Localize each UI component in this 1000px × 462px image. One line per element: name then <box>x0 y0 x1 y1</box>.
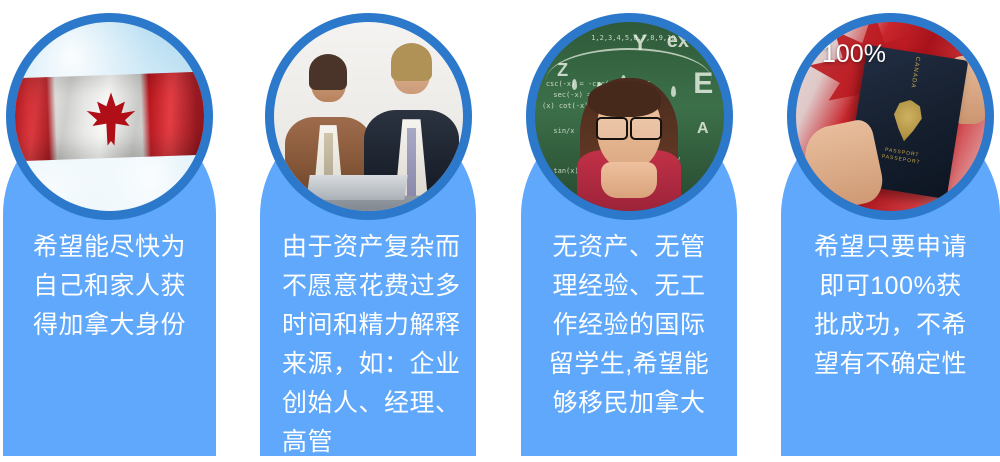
card-text: 由于资产复杂而 不愿意花费过多 时间和精力解释 来源，如：企业 创始人、经理、 … <box>260 228 476 462</box>
card-text: 希望能尽快为 自己和家人获 得加拿大身份 <box>3 228 216 345</box>
lens-left <box>596 117 628 141</box>
lens-right <box>630 117 662 141</box>
hair <box>391 43 433 81</box>
card-text: 无资产、无管 理经验、无工 作经验的国际 留学生,希望能 够移民加拿大 <box>521 228 737 423</box>
chalk-letter-y: Y <box>633 30 648 56</box>
card-circle-frame <box>265 13 472 220</box>
student-figure <box>570 75 687 211</box>
card-guaranteed-approval[interactable]: CANADA PASSPORTPASSEPORT 100% 希望只要申请 即可1… <box>781 0 1000 456</box>
glasses-icon <box>596 117 662 137</box>
hair <box>309 54 347 89</box>
card-text: 希望只要申请 即可100%获 批成功，不希 望有不确定性 <box>781 228 1000 384</box>
card-circle-frame <box>6 13 213 220</box>
card-identity[interactable]: 希望能尽快为 自己和家人获 得加拿大身份 <box>3 0 216 456</box>
person-right <box>364 48 459 195</box>
chalk-letter-ex: ex <box>667 30 689 53</box>
percent-badge: 100% <box>822 42 886 67</box>
card-no-experience[interactable]: 1,2,3,4,5,6,7,8,9,10 csc(-x) = -csc(x) s… <box>521 0 737 456</box>
maple-leaf-icon <box>82 90 140 148</box>
card-complex-assets[interactable]: 由于资产复杂而 不愿意花费过多 时间和精力解释 来源，如：企业 创始人、经理、 … <box>260 0 476 456</box>
canadian-flag-photo <box>15 22 204 211</box>
card-circle-frame: CANADA PASSPORTPASSEPORT 100% <box>787 13 994 220</box>
hand-holding-passport-photo: CANADA PASSPORTPASSEPORT 100% <box>796 22 985 211</box>
two-businessmen-photo <box>274 22 463 211</box>
fringe <box>588 81 661 117</box>
student-blackboard-photo: 1,2,3,4,5,6,7,8,9,10 csc(-x) = -csc(x) s… <box>535 22 724 211</box>
hands <box>601 162 657 198</box>
cards-board: 希望能尽快为 自己和家人获 得加拿大身份 <box>0 0 1000 456</box>
coat-of-arms-icon <box>881 96 934 145</box>
chalk-letter-a: A <box>697 120 709 138</box>
chalk-letter-e: E <box>693 67 713 101</box>
laptop <box>306 175 408 200</box>
card-circle-frame: 1,2,3,4,5,6,7,8,9,10 csc(-x) = -csc(x) s… <box>526 13 733 220</box>
chalk-letter-z: Z <box>557 60 568 81</box>
tie <box>407 128 416 196</box>
passport-country-label: CANADA <box>910 56 921 89</box>
